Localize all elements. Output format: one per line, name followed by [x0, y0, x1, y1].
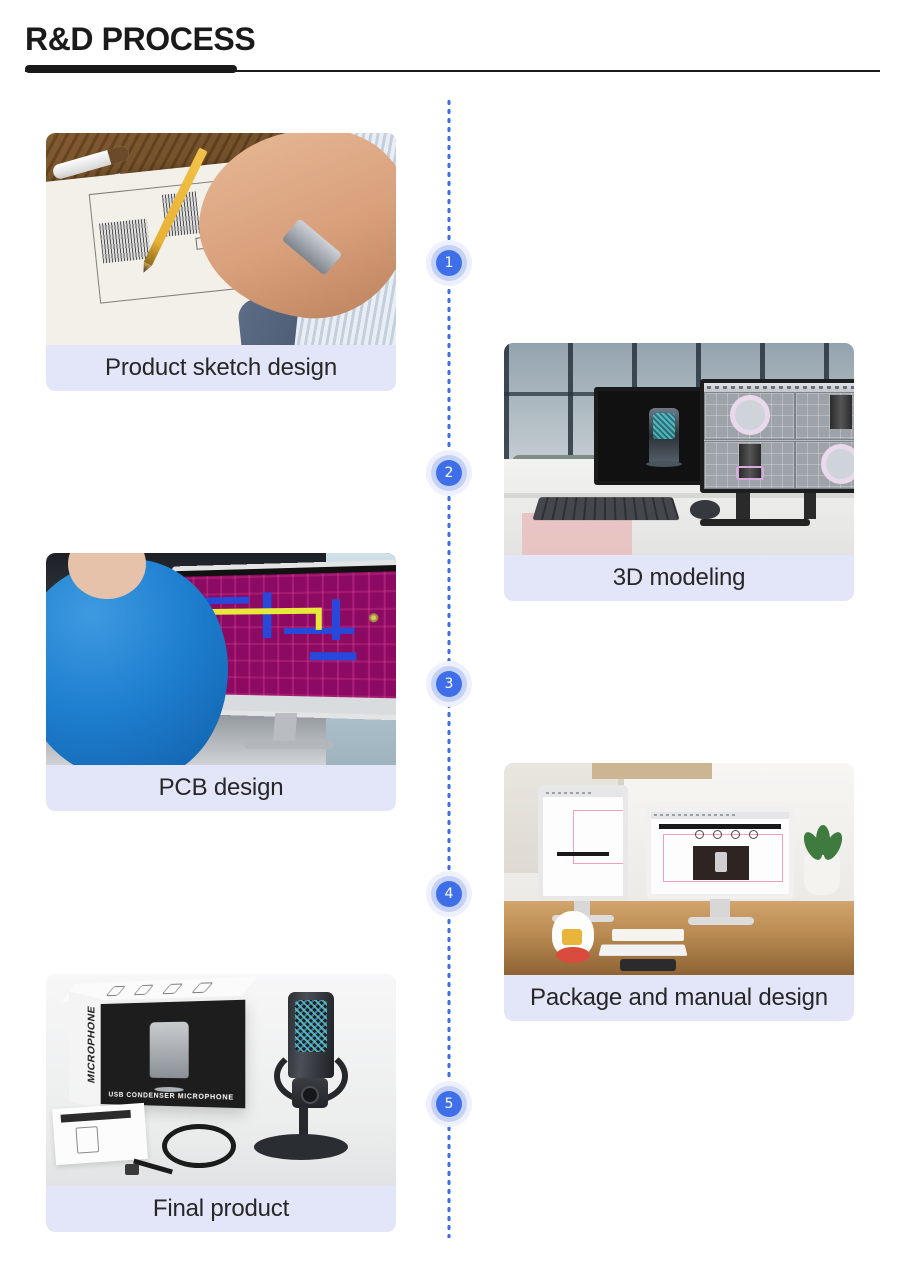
microphone-render-base [646, 461, 682, 467]
cad-viewport-bottom-right [795, 441, 854, 489]
step-ring-4: 4 [431, 876, 467, 912]
step-photo-sketch-design [46, 133, 396, 345]
monitor-right-cad [700, 379, 854, 493]
phone-icon [620, 959, 676, 971]
step-card-3[interactable]: PCB design [46, 553, 396, 811]
imac-left-toolbar [543, 790, 623, 797]
monitor-stand-right [804, 493, 816, 519]
box-icon-1 [106, 986, 126, 996]
package-icon-3 [731, 830, 740, 839]
microphone-control-knob [292, 1078, 328, 1108]
imac-right [646, 807, 794, 899]
cad-part-ring-2 [821, 444, 855, 484]
user-manual [52, 1103, 148, 1165]
step-photo-package-design [504, 763, 854, 975]
cad-toolbar [704, 383, 854, 392]
cad-part-ring [730, 395, 770, 435]
box-icon-3 [162, 983, 184, 994]
pcb-trace-yellow [316, 608, 322, 630]
pcb-trace [332, 599, 340, 640]
mouse-icon [690, 500, 720, 519]
timeline-step-node-3[interactable]: 3 [426, 661, 472, 707]
step-number-2: 2 [436, 460, 462, 486]
lucky-cat-bib [562, 929, 582, 945]
retail-box-side: MICROPHONE [69, 991, 101, 1110]
cad-part-yoke [736, 466, 764, 480]
usb-cable [162, 1124, 236, 1168]
box-side-label: MICROPHONE [86, 997, 97, 1092]
imac-left [538, 785, 628, 901]
step-caption-5: Final product [46, 1186, 396, 1232]
lucky-cat-figurine [552, 911, 594, 957]
artwork-top-bar [659, 824, 781, 829]
step-card-5[interactable]: MICROPHONE USB CONDENSER MICROPHONE Fina… [46, 974, 396, 1232]
cad-viewport-bottom-left [704, 441, 795, 489]
retail-box: MICROPHONE USB CONDENSER MICROPHONE [99, 1000, 245, 1109]
artwork-bar [557, 852, 609, 856]
step-card-4[interactable]: Package and manual design [504, 763, 854, 1021]
monitor-foot [700, 519, 810, 526]
manual-figure [76, 1126, 100, 1153]
monitor-stand-left [736, 493, 750, 521]
microphone-stand-base [254, 1134, 348, 1160]
imac-right-neck [710, 899, 730, 919]
step-number-1: 1 [436, 250, 462, 276]
pcb-trace [310, 652, 357, 660]
pcb-trace [263, 592, 272, 638]
step-number-4: 4 [436, 881, 462, 907]
step-photo-3d-modeling [504, 343, 854, 555]
box-icon-2 [133, 985, 154, 996]
keyboard-icon [599, 944, 688, 955]
manual-header-bar [61, 1110, 131, 1123]
microphone-body [288, 992, 334, 1078]
timeline-step-node-4[interactable]: 4 [426, 871, 472, 917]
page-title: R&D PROCESS [25, 21, 255, 58]
step-number-3: 3 [436, 671, 462, 697]
box-icon-4 [191, 982, 213, 993]
step-caption-2: 3D modeling [504, 555, 854, 601]
step-photo-pcb-design [46, 553, 396, 765]
wood-beam [592, 763, 712, 779]
step-caption-1: Product sketch design [46, 345, 396, 391]
step-card-2[interactable]: 3D modeling [504, 343, 854, 601]
package-icon-2 [713, 830, 722, 839]
microphone-rgb-grille [295, 1000, 327, 1052]
microphone-3d-render [649, 408, 679, 464]
timeline-step-node-1[interactable]: 1 [426, 240, 472, 286]
cad-viewport-top-left [704, 392, 795, 440]
step-ring-5: 5 [431, 1086, 467, 1122]
notebook [612, 929, 684, 941]
box-bottom-label: USB CONDENSER MICROPHONE [99, 1091, 245, 1102]
header-rule-thick [25, 65, 237, 73]
potted-plant [804, 855, 840, 895]
step-caption-3: PCB design [46, 765, 396, 811]
step-card-1[interactable]: Product sketch design [46, 133, 396, 391]
package-icon-4 [749, 830, 758, 839]
timeline-step-node-2[interactable]: 2 [426, 450, 472, 496]
step-ring-3: 3 [431, 666, 467, 702]
step-photo-final-product: MICROPHONE USB CONDENSER MICROPHONE [46, 974, 396, 1186]
imac-base [244, 741, 334, 749]
imac-right-foot [688, 917, 754, 925]
step-number-5: 5 [436, 1091, 462, 1117]
pcb-pad [369, 613, 378, 622]
package-front-artwork [693, 846, 749, 880]
keyboard-icon [532, 497, 680, 520]
cad-part-cylinder [830, 395, 852, 429]
box-product-photo [150, 1022, 189, 1079]
package-icon-1 [695, 830, 704, 839]
pcb-trace-yellow [206, 608, 321, 615]
sketch-grille-1 [99, 219, 151, 264]
timeline-step-node-5[interactable]: 5 [426, 1081, 472, 1127]
imac-neck [273, 713, 297, 743]
rd-process-page: R&D PROCESS 1 2 3 4 5 [0, 0, 900, 1262]
step-ring-1: 1 [431, 245, 467, 281]
step-ring-2: 2 [431, 455, 467, 491]
imac-right-toolbar [651, 812, 789, 819]
cad-viewport-top-right [795, 392, 854, 440]
step-caption-4: Package and manual design [504, 975, 854, 1021]
